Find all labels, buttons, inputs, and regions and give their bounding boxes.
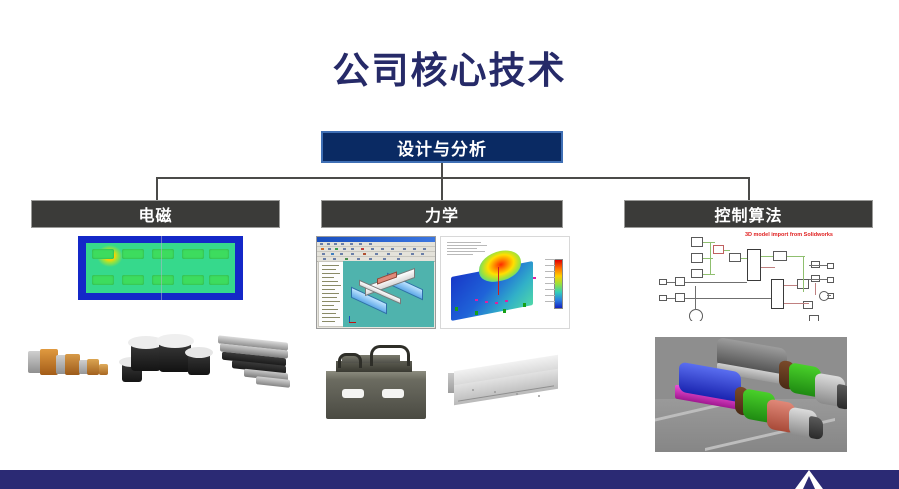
connector-drop-mechanics — [441, 177, 443, 200]
linear-stage-photo — [442, 347, 572, 421]
fea-coil — [209, 249, 229, 259]
diagram-annotation: 3D model import from Solidworks — [745, 232, 833, 239]
cable-carrier — [370, 345, 410, 366]
footer-band — [0, 470, 899, 489]
coil-part — [87, 359, 99, 375]
fea-coil — [122, 249, 144, 259]
fea-load-arrow — [498, 267, 499, 295]
fea-coil — [92, 275, 114, 285]
voice-coil-motor-part — [156, 334, 194, 348]
structural-fea-displacement-plot — [440, 236, 570, 329]
simulink-transfer-block — [773, 251, 787, 261]
base-window — [342, 389, 364, 398]
node-design-and-analysis[interactable]: 设计与分析 — [321, 131, 563, 163]
fea-color-legend — [554, 259, 563, 309]
base-casting — [326, 377, 426, 419]
node-label: 电磁 — [138, 202, 172, 226]
simulink-sum-node — [819, 291, 829, 301]
base-top-surface — [326, 371, 426, 380]
base-window — [382, 389, 404, 398]
page-title: 公司核心技术 — [0, 40, 899, 94]
simulink-clock-block — [689, 309, 703, 321]
fea-coil — [209, 275, 229, 285]
fea-centerline — [161, 236, 162, 300]
chevron-logo-inner-icon — [803, 476, 815, 489]
fea-coil — [92, 249, 114, 259]
simulink-subsystem-block — [771, 279, 784, 309]
simulink-source-block — [691, 253, 703, 263]
voice-coil-motor-part — [185, 347, 213, 358]
coil-part — [65, 354, 80, 375]
node-electromagnetics[interactable]: 电磁 — [31, 200, 280, 228]
connector-horizontal-bar — [156, 177, 749, 179]
simulink-gain-block — [729, 253, 741, 262]
fea-coil — [182, 249, 204, 259]
cad-feature-tree[interactable] — [318, 261, 344, 327]
machine-base-photo — [318, 337, 434, 427]
cable-carrier — [338, 353, 362, 368]
fea-coil — [182, 275, 204, 285]
simulink-output-port — [827, 277, 834, 283]
fea-coil — [152, 275, 174, 285]
node-label: 力学 — [425, 202, 459, 226]
node-label: 设计与分析 — [397, 135, 487, 160]
connector-drop-control — [748, 177, 750, 200]
simulink-gain-block — [809, 315, 819, 321]
simulink-sum-block — [713, 245, 724, 254]
slide-canvas: 公司核心技术 设计与分析 电磁 力学 控制算法 — [0, 0, 899, 489]
simulink-source-block — [691, 237, 703, 247]
magnetic-field-fea-plot — [78, 236, 243, 300]
simulink-input-port — [659, 295, 667, 301]
render-nose-cap — [837, 384, 847, 410]
coil-part — [99, 364, 108, 375]
node-mechanics[interactable]: 力学 — [321, 200, 563, 228]
simulink-block-diagram: 3D model import from Solidworks — [655, 231, 835, 321]
node-control-algorithm[interactable]: 控制算法 — [624, 200, 873, 228]
simulink-output-port — [827, 263, 834, 269]
simulink-input-port — [659, 279, 667, 285]
connector-drop-electromagnetics — [156, 177, 158, 200]
cad-axis-triad — [349, 322, 356, 323]
node-label: 控制算法 — [714, 202, 782, 226]
coil-and-magnet-products-photo — [18, 323, 303, 408]
cad-application-screenshot — [316, 236, 436, 329]
render-nose-cap — [809, 416, 823, 440]
simulink-subsystem-block — [747, 249, 761, 281]
simulink-gain-block — [675, 277, 685, 286]
simulink-source-block — [691, 269, 703, 278]
cad-3d-viewport[interactable] — [343, 261, 434, 327]
fea-coil — [152, 249, 174, 259]
fea-coil — [122, 275, 144, 285]
motor-assembly-3d-render — [655, 337, 847, 452]
simulink-gain-block — [675, 293, 685, 302]
